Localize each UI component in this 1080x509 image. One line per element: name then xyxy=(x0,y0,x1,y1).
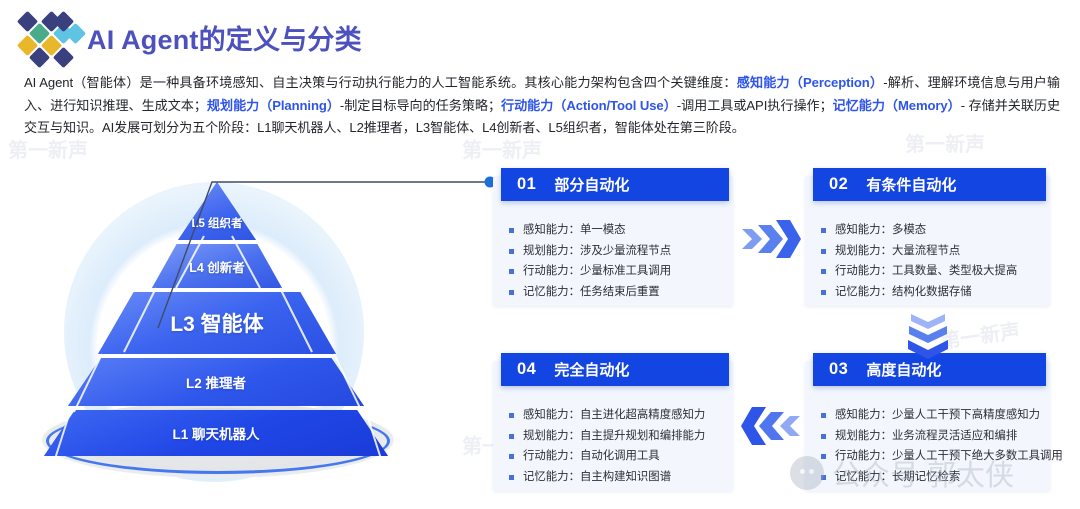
stage-card-02[interactable]: 02 有条件自动化 感知能力：多模态 规划能力：大量流程节点 行动能力：工具数量… xyxy=(805,176,1050,306)
list-item: 感知能力：少量人工干预下高精度感知力 xyxy=(821,405,1040,426)
stage-card-02-header: 02 有条件自动化 xyxy=(813,168,1046,201)
page-title: AI Agent的定义与分类 xyxy=(87,18,362,57)
bullet-text: 感知能力：单一模态 xyxy=(523,220,626,241)
stage-card-03[interactable]: 03 高度自动化 感知能力：少量人工干预下高精度感知力 规划能力：业务流程灵活适… xyxy=(805,361,1050,491)
list-item: 记忆能力：长期记忆检索 xyxy=(821,467,1040,488)
pyramid-tier-l2[interactable]: L2 推理者 xyxy=(68,358,364,406)
page-header: AI Agent的定义与分类 xyxy=(0,0,1080,64)
intro-segment-3: -制定目标导向的任务策略； xyxy=(340,98,501,113)
bullet-text: 规划能力：业务流程灵活适应和编排 xyxy=(835,426,1017,447)
list-item: 记忆能力：任务结束后重置 xyxy=(509,282,723,303)
list-item: 规划能力：涉及少量流程节点 xyxy=(509,241,723,262)
stage-card-04-body: 感知能力：自主进化超高精度感知力 规划能力：自主提升规划和编排能力 行动能力：自… xyxy=(493,397,733,493)
chevrons-right-icon xyxy=(740,215,802,263)
bullet-square-icon xyxy=(509,228,514,233)
list-item: 记忆能力：自主构建知识图谱 xyxy=(509,467,723,488)
stage-card-04-number: 04 xyxy=(517,360,536,379)
list-item: 感知能力：自主进化超高精度感知力 xyxy=(509,405,723,426)
bullet-text: 规划能力：大量流程节点 xyxy=(835,241,960,262)
bullet-square-icon xyxy=(509,269,514,274)
bullet-text: 记忆能力：长期记忆检索 xyxy=(835,467,960,488)
stage-card-01[interactable]: 01 部分自动化 感知能力：单一模态 规划能力：涉及少量流程节点 行动能力：少量… xyxy=(493,176,733,306)
bullet-text: 记忆能力：结构化数据存储 xyxy=(835,282,972,303)
bullet-square-icon xyxy=(509,454,514,459)
stage-card-03-body: 感知能力：少量人工干预下高精度感知力 规划能力：业务流程灵活适应和编排 行动能力… xyxy=(805,397,1050,493)
list-item: 感知能力：单一模态 xyxy=(509,220,723,241)
list-item: 行动能力：工具数量、类型极大提高 xyxy=(821,261,1040,282)
bullet-square-icon xyxy=(821,413,826,418)
bullet-square-icon xyxy=(821,290,826,295)
bullet-text: 感知能力：多模态 xyxy=(835,220,926,241)
list-item: 规划能力：自主提升规划和编排能力 xyxy=(509,426,723,447)
stage-card-02-body: 感知能力：多模态 规划能力：大量流程节点 行动能力：工具数量、类型极大提高 记忆… xyxy=(805,212,1050,308)
stage-card-01-header: 01 部分自动化 xyxy=(501,168,729,201)
stage-card-02-title: 有条件自动化 xyxy=(866,174,956,195)
stage-card-01-title: 部分自动化 xyxy=(554,174,629,195)
intro-highlight-memory: 记忆能力（Memory） xyxy=(833,98,961,113)
intro-highlight-planning: 规划能力（Planning） xyxy=(207,98,340,113)
bullet-square-icon xyxy=(821,475,826,480)
stage-card-03-number: 03 xyxy=(829,360,848,379)
bullet-text: 规划能力：涉及少量流程节点 xyxy=(523,241,671,262)
bullet-text: 行动能力：少量标准工具调用 xyxy=(523,261,671,282)
bullet-square-icon xyxy=(509,475,514,480)
intro-paragraph: AI Agent（智能体）是一种具备环境感知、自主决策与行动执行能力的人工智能系… xyxy=(24,72,1060,140)
pyramid-tier-l1[interactable]: L1 聊天机器人 xyxy=(44,410,388,456)
bullet-square-icon xyxy=(821,228,826,233)
stage-card-04-title: 完全自动化 xyxy=(554,359,629,380)
brand-logo-icon xyxy=(18,12,82,60)
bullet-text: 规划能力：自主提升规划和编排能力 xyxy=(523,426,705,447)
intro-segment-4: -调用工具或API执行操作； xyxy=(677,98,833,113)
bullet-text: 行动能力：自动化调用工具 xyxy=(523,446,660,467)
stage-card-02-number: 02 xyxy=(829,175,848,194)
bullet-square-icon xyxy=(509,290,514,295)
list-item: 行动能力：少量标准工具调用 xyxy=(509,261,723,282)
stage-card-04[interactable]: 04 完全自动化 感知能力：自主进化超高精度感知力 规划能力：自主提升规划和编排… xyxy=(493,361,733,491)
bullet-text: 记忆能力：自主构建知识图谱 xyxy=(523,467,671,488)
bullet-square-icon xyxy=(509,413,514,418)
chevrons-left-icon xyxy=(740,402,802,450)
stage-card-04-header: 04 完全自动化 xyxy=(501,353,729,386)
list-item: 规划能力：大量流程节点 xyxy=(821,241,1040,262)
stage-card-03-title: 高度自动化 xyxy=(866,359,941,380)
bullet-text: 行动能力：工具数量、类型极大提高 xyxy=(835,261,1017,282)
bullet-square-icon xyxy=(821,269,826,274)
chevrons-down-icon xyxy=(903,312,953,362)
bullet-square-icon xyxy=(821,249,826,254)
list-item: 感知能力：多模态 xyxy=(821,220,1040,241)
pyramid-to-card-connector xyxy=(150,168,510,338)
list-item: 行动能力：少量人工干预下绝大多数工具调用 xyxy=(821,446,1040,467)
bullet-square-icon xyxy=(509,249,514,254)
bullet-text: 感知能力：自主进化超高精度感知力 xyxy=(523,405,705,426)
stage-card-01-body: 感知能力：单一模态 规划能力：涉及少量流程节点 行动能力：少量标准工具调用 记忆… xyxy=(493,212,733,308)
pyramid-tier-l1-label: L1 聊天机器人 xyxy=(172,423,259,443)
list-item: 记忆能力：结构化数据存储 xyxy=(821,282,1040,303)
list-item: 行动能力：自动化调用工具 xyxy=(509,446,723,467)
intro-highlight-perception: 感知能力（Perception） xyxy=(737,75,884,90)
intro-highlight-action: 行动能力（Action/Tool Use） xyxy=(501,98,677,113)
bullet-square-icon xyxy=(509,434,514,439)
bullet-text: 行动能力：少量人工干预下绝大多数工具调用 xyxy=(835,446,1063,467)
bullet-square-icon xyxy=(821,434,826,439)
intro-segment-1: AI Agent（智能体）是一种具备环境感知、自主决策与行动执行能力的人工智能系… xyxy=(24,75,737,90)
stage-card-01-number: 01 xyxy=(517,175,536,194)
bullet-text: 记忆能力：任务结束后重置 xyxy=(523,282,660,303)
bullet-text: 感知能力：少量人工干预下高精度感知力 xyxy=(835,405,1040,426)
pyramid-tier-l2-label: L2 推理者 xyxy=(186,372,246,392)
bullet-square-icon xyxy=(821,454,826,459)
list-item: 规划能力：业务流程灵活适应和编排 xyxy=(821,426,1040,447)
